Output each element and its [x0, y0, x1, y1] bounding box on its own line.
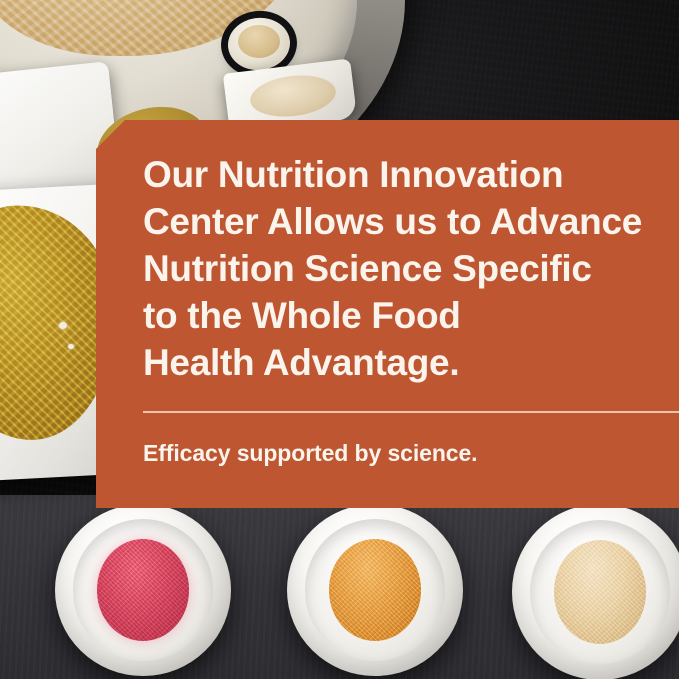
pink-berry-powder: [97, 539, 190, 641]
bowl-cream: [512, 504, 679, 679]
bowl-interior: [305, 519, 446, 660]
bowl-pink: [55, 504, 231, 676]
bowl-interior: [73, 519, 214, 660]
amber-granular-powder: [329, 539, 422, 641]
small-cup-powder: [238, 25, 280, 58]
divider-rule: [143, 411, 679, 413]
cream-powder: [554, 540, 647, 644]
powder-speck: [68, 344, 74, 349]
bowl-amber: [287, 504, 463, 676]
card-body: Our Nutrition Innovation Center Allows u…: [143, 151, 679, 386]
promo-card-image: Our Nutrition Innovation Center Allows u…: [0, 0, 679, 679]
subline-text: Efficacy supported by science.: [143, 440, 477, 467]
headline-text: Our Nutrition Innovation Center Allows u…: [143, 151, 679, 386]
bowl-interior: [530, 520, 671, 664]
powder-speck: [59, 322, 67, 329]
